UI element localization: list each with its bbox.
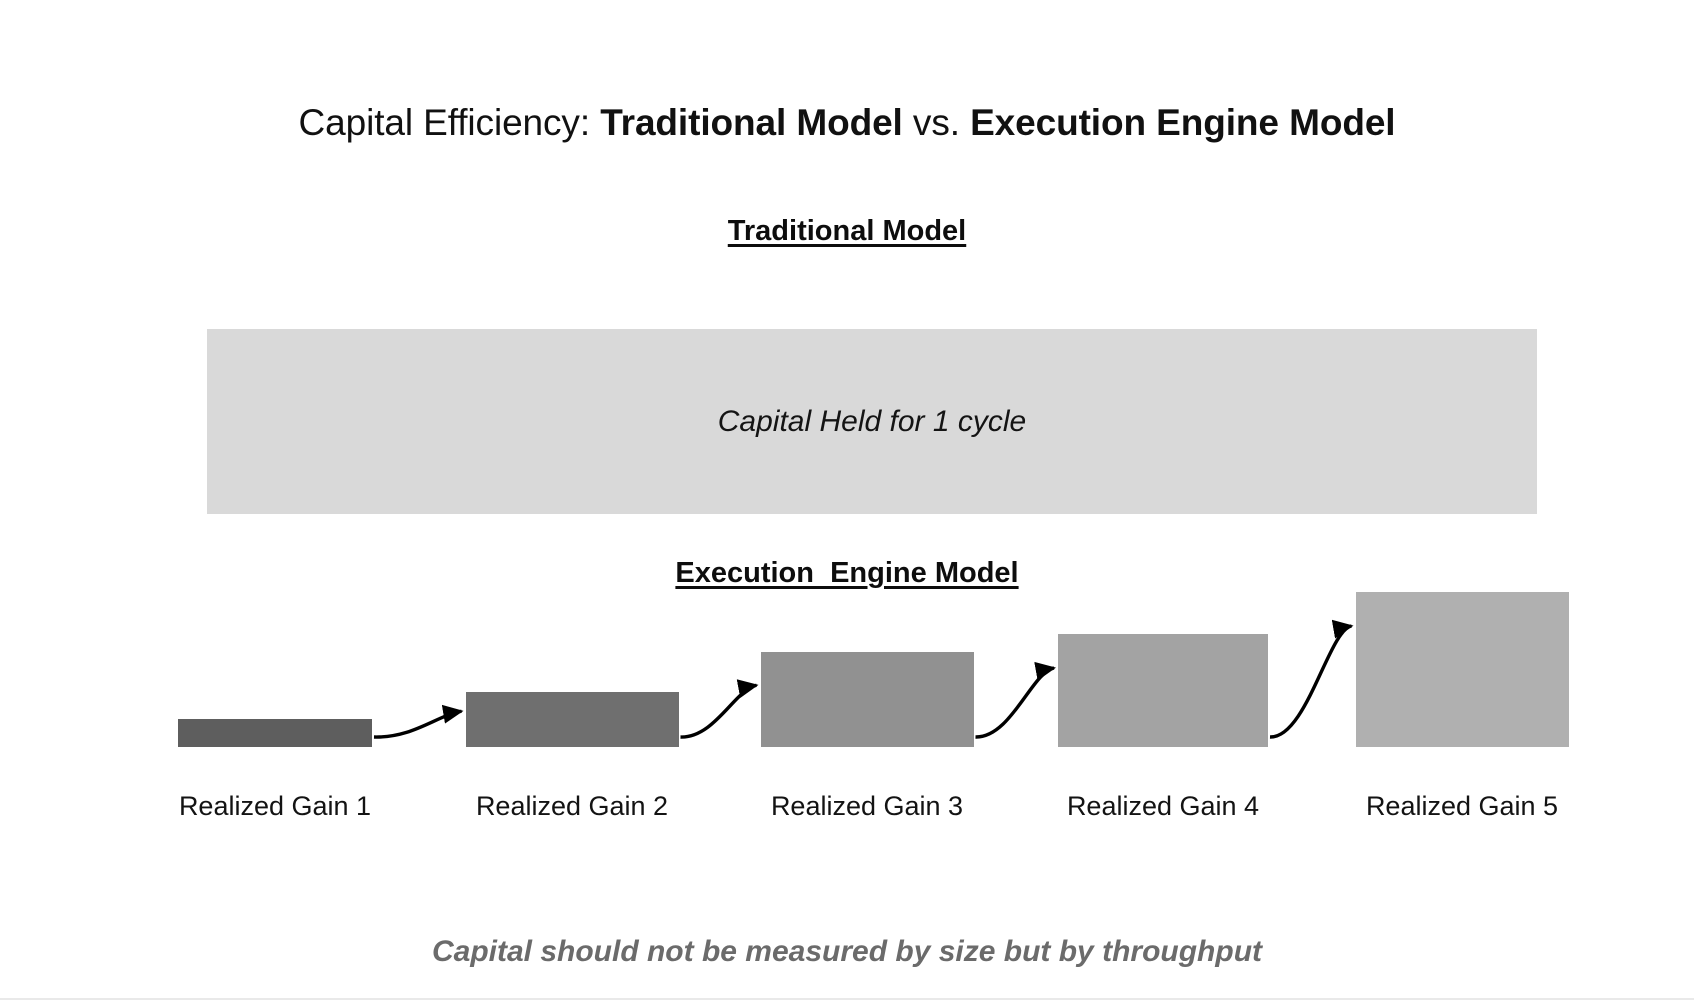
capital-held-label: Capital Held for 1 cycle (207, 404, 1537, 440)
realized-gain-label: Realized Gain 2 (412, 790, 732, 822)
realized-gain-label: Realized Gain 3 (707, 790, 1027, 822)
realized-gain-bar (761, 652, 974, 747)
realized-gain-bar (1356, 592, 1569, 747)
footer-caption: Capital should not be measured by size b… (0, 934, 1694, 970)
flow-arrow-icon (976, 668, 1055, 737)
realized-gain-bar (178, 719, 372, 747)
title-lead: Capital Efficiency: (299, 102, 601, 143)
page-title: Capital Efficiency: Traditional Model vs… (0, 100, 1694, 146)
realized-gain-bar (466, 692, 679, 747)
realized-gain-bar (1058, 634, 1268, 747)
title-execution-engine-model: Execution Engine Model (970, 102, 1395, 143)
slide-canvas: Capital Efficiency: Traditional Model vs… (0, 0, 1694, 1000)
section-heading-traditional: Traditional Model (0, 214, 1694, 248)
flow-arrow-icon (1270, 626, 1352, 737)
capital-held-block: Capital Held for 1 cycle (207, 329, 1537, 514)
realized-gain-label: Realized Gain 4 (1003, 790, 1323, 822)
title-traditional-model: Traditional Model (600, 102, 903, 143)
realized-gain-label: Realized Gain 1 (115, 790, 435, 822)
flow-arrow-icon (681, 685, 757, 737)
realized-gain-label: Realized Gain 5 (1302, 790, 1622, 822)
execution-engine-chain: Realized Gain 1Realized Gain 2Realized G… (0, 600, 1694, 860)
section-heading-execution-engine: Execution Engine Model (0, 556, 1694, 590)
title-connector: vs. (903, 102, 970, 143)
flow-arrow-icon (374, 711, 462, 737)
